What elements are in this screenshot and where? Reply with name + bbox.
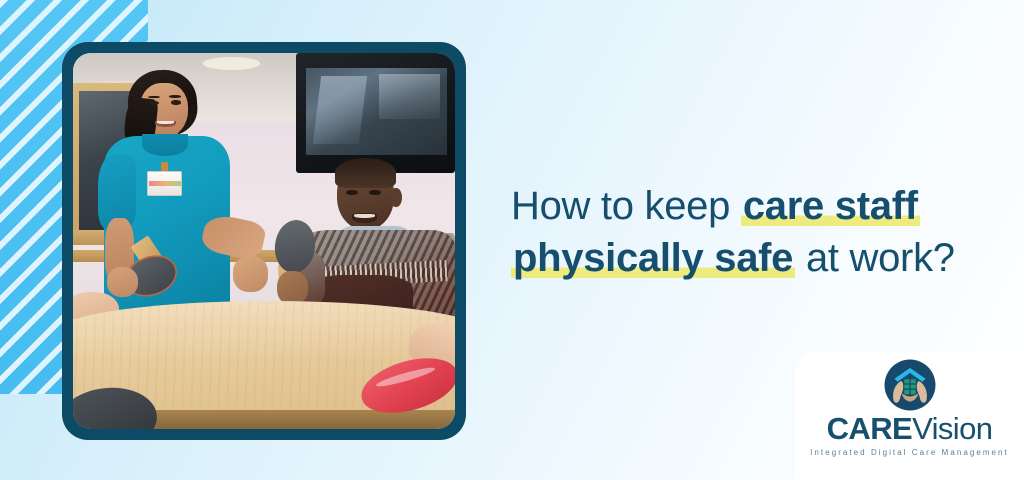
- resident-hair: [335, 158, 396, 188]
- headline: How to keep care staff physically safe a…: [511, 180, 1011, 284]
- logo-word-care: CARE: [827, 411, 912, 446]
- promo-banner: How to keep care staff physically safe a…: [0, 0, 1024, 480]
- headline-line-2-highlight: physically safe: [511, 236, 795, 280]
- care-worker-hand: [233, 256, 267, 292]
- care-worker-eyebrow: [169, 95, 181, 98]
- id-badge-stripe: [149, 181, 181, 186]
- logo-card: CAREVision Integrated Digital Care Manag…: [795, 352, 1024, 480]
- logo-tagline: Integrated Digital Care Management: [795, 448, 1024, 457]
- resident-hand: [277, 271, 308, 305]
- ceiling-light-icon: [203, 57, 260, 70]
- tv-reflection: [313, 76, 367, 144]
- tv-reflection: [379, 74, 440, 119]
- logo-word-vision: Vision: [912, 411, 992, 446]
- headline-line-2-plain: at work?: [795, 236, 955, 280]
- headline-line-1-highlight: care staff: [741, 184, 920, 228]
- care-worker-eye: [171, 100, 181, 104]
- resident-eye: [369, 190, 380, 195]
- care-worker-hand: [107, 267, 138, 297]
- resident-ear: [390, 188, 401, 207]
- headline-line-1-plain: How to keep: [511, 184, 741, 228]
- headline-line-1: How to keep care staff: [511, 180, 1011, 232]
- photo-card: [62, 42, 466, 440]
- hands-holding-house-icon: [884, 359, 936, 411]
- headline-line-2: physically safe at work?: [511, 232, 1011, 284]
- logo-wordmark: CAREVision: [795, 412, 1024, 446]
- resident-eye: [346, 190, 357, 195]
- care-home-photo: [73, 53, 455, 429]
